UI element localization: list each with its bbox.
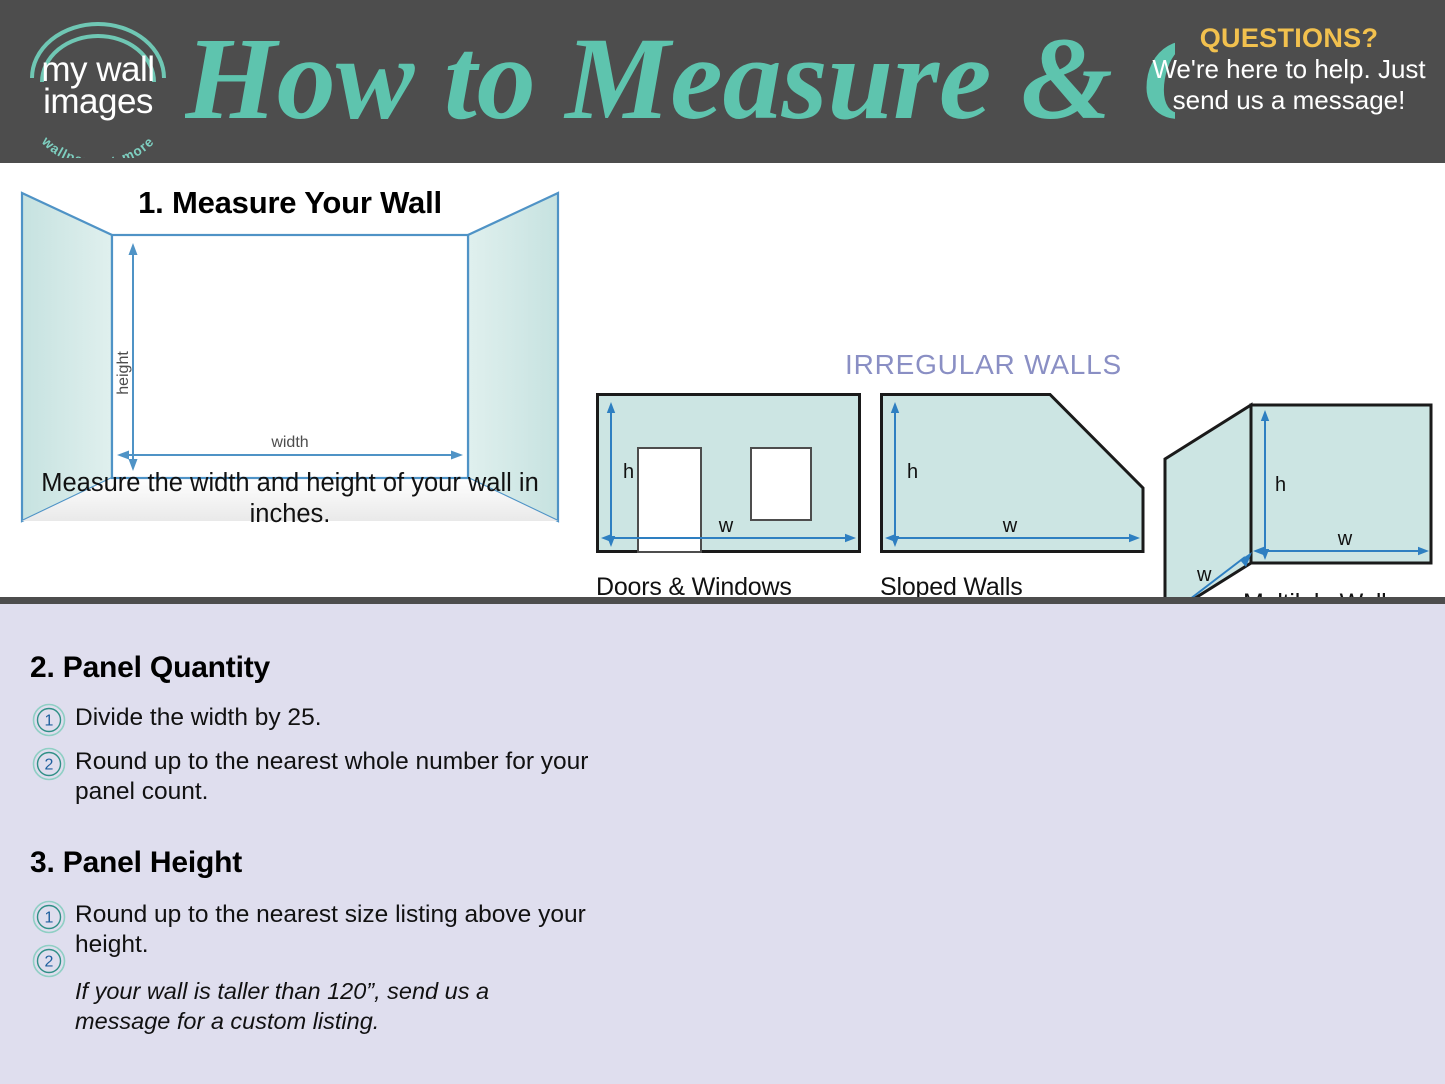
- step3-badge-2-icon: 2: [32, 944, 66, 978]
- brand-logo: my wall images wallpaper + more: [18, 16, 178, 148]
- step3-title: 3. Panel Height: [30, 846, 242, 880]
- wall-height-label: height: [115, 351, 132, 395]
- page-title: How to Measure & Order: [185, 6, 1175, 156]
- multiple-h-label: h: [1275, 474, 1286, 496]
- wall-width-label: width: [270, 434, 308, 451]
- irregular-block-multiple: h w w Multilple Walls Measure and combin…: [1155, 391, 1440, 621]
- irregular-block-sloped: h w Sloped Walls Measure the widest and …: [880, 393, 1145, 558]
- sloped-h-label: h: [907, 461, 918, 483]
- infographic-page: my wall images wallpaper + more How to M…: [0, 0, 1445, 1084]
- multiple-walls-diagram: h w w: [1155, 391, 1445, 616]
- questions-body: We're here to help. Just send us a messa…: [1149, 54, 1429, 116]
- step2-badge-2-text: 2: [45, 757, 54, 774]
- doors-w-label: w: [718, 515, 734, 537]
- logo-tagline: wallpaper + more: [18, 120, 178, 158]
- step3-note: If your wall is taller than 120”, send u…: [75, 976, 575, 1036]
- step3-badge-1-icon: 1: [32, 900, 66, 934]
- irregular-walls-heading: IRREGULAR WALLS: [845, 349, 1122, 381]
- measure-wall-panel: height width 1. Measure Your Wall Measur…: [0, 163, 580, 597]
- irregular-block-doors: h w Doors & Windows Measure the width an…: [596, 393, 861, 558]
- multiple-w-label-left: w: [1196, 564, 1212, 586]
- svg-text:wallpaper + more: wallpaper + more: [38, 133, 157, 158]
- step2-item-1: Divide the width by 25.: [75, 703, 595, 733]
- logo-line-2: images: [18, 84, 178, 120]
- measure-section: height width 1. Measure Your Wall Measur…: [0, 163, 1445, 597]
- step3-badge-2-text: 2: [45, 954, 54, 971]
- sloped-wall-diagram: h w: [880, 393, 1145, 553]
- doors-h-label: h: [623, 461, 634, 483]
- step2-item-2: Round up to the nearest whole number for…: [75, 747, 595, 807]
- step1-caption: Measure the width and height of your wal…: [0, 468, 580, 530]
- sloped-w-label: w: [1002, 515, 1018, 537]
- step2-badge-1-text: 1: [45, 713, 54, 730]
- questions-heading: QUESTIONS?: [1149, 22, 1429, 54]
- panels-section: 2. Panel Quantity 1 Divide the width by …: [0, 604, 1445, 1084]
- step3-item-1: Round up to the nearest size listing abo…: [75, 900, 605, 960]
- page-title-text: How to Measure & Order: [185, 13, 1175, 144]
- multiple-w-label-right: w: [1337, 528, 1353, 550]
- doors-windows-diagram: h w: [596, 393, 861, 553]
- questions-block: QUESTIONS? We're here to help. Just send…: [1149, 22, 1429, 116]
- step3-badge-1-text: 1: [45, 910, 54, 927]
- step1-title: 1. Measure Your Wall: [0, 185, 580, 221]
- step2-badge-1-icon: 1: [32, 703, 66, 737]
- step2-title: 2. Panel Quantity: [30, 651, 270, 685]
- logo-tagline-text: wallpaper + more: [38, 133, 157, 158]
- section-divider: [0, 597, 1445, 604]
- step2-badge-2-icon: 2: [32, 747, 66, 781]
- page-header: my wall images wallpaper + more How to M…: [0, 0, 1445, 163]
